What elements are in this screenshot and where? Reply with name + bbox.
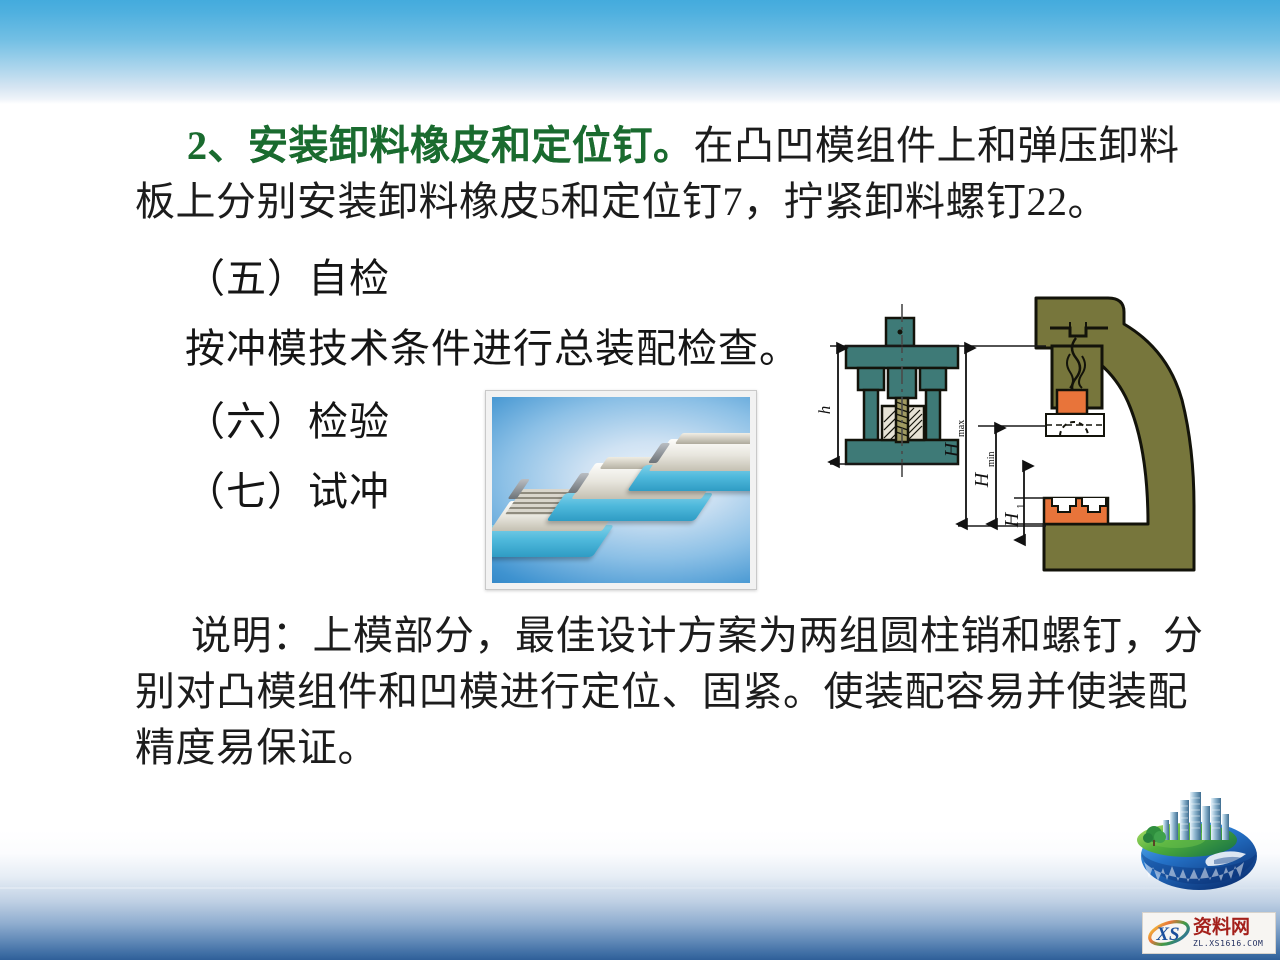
ram-pad-orange	[1057, 390, 1087, 414]
site-watermark: XS 资料网 ZL.XS1616.COM	[1142, 912, 1276, 954]
label-die-height: h	[815, 406, 834, 415]
note-paragraph: 说明：上模部分，最佳设计方案为两组圆柱销和螺钉，分别对凸模组件和凹模进行定位、固…	[135, 608, 1210, 776]
xs-logo-icon: XS	[1147, 916, 1191, 950]
svg-text:H: H	[941, 441, 963, 458]
svg-text:max: max	[956, 420, 967, 437]
section-heading-five: （五）自检	[185, 255, 390, 303]
city-skyline	[1163, 792, 1229, 840]
svg-text:XS: XS	[1155, 924, 1179, 945]
section-heading-six: （六）检验	[185, 398, 390, 446]
press-stroke-dimension-diagram: h H max H min H 1	[808, 280, 1200, 592]
watermark-url: ZL.XS1616.COM	[1193, 940, 1271, 948]
lead-paragraph: 2、安装卸料橡皮和定位钉。在凸凹模组件上和弹压卸料板上分别安装卸料橡皮5和定位钉…	[135, 118, 1210, 230]
label-shut-height-min: H min	[971, 451, 997, 488]
work-zone-dashed	[1046, 414, 1104, 436]
eco-city-globe	[1124, 784, 1274, 896]
watermark-text: 资料网 ZL.XS1616.COM	[1191, 918, 1271, 948]
svg-text:H: H	[971, 471, 993, 488]
slide-canvas: 2、安装卸料橡皮和定位钉。在凸凹模组件上和弹压卸料板上分别安装卸料橡皮5和定位钉…	[0, 0, 1280, 960]
lead-highlight: 安装卸料橡皮和定位钉。	[248, 123, 694, 168]
stamping-dies-photo	[492, 397, 750, 583]
bolster-plate-orange	[1044, 498, 1108, 524]
section-five-description: 按冲模技术条件进行总装配检查。	[185, 325, 800, 373]
section-heading-seven: （七）试冲	[185, 468, 390, 516]
stamping-dies-photo-frame	[485, 390, 757, 590]
lead-number: 2、	[187, 123, 248, 168]
svg-text:1: 1	[1015, 504, 1027, 510]
watermark-site-name: 资料网	[1193, 918, 1271, 937]
slide-content: 2、安装卸料橡皮和定位钉。在凸凹模组件上和弹压卸料板上分别安装卸料橡皮5和定位钉…	[0, 0, 1280, 960]
svg-text:H: H	[1001, 511, 1023, 528]
svg-text:min: min	[986, 451, 997, 467]
